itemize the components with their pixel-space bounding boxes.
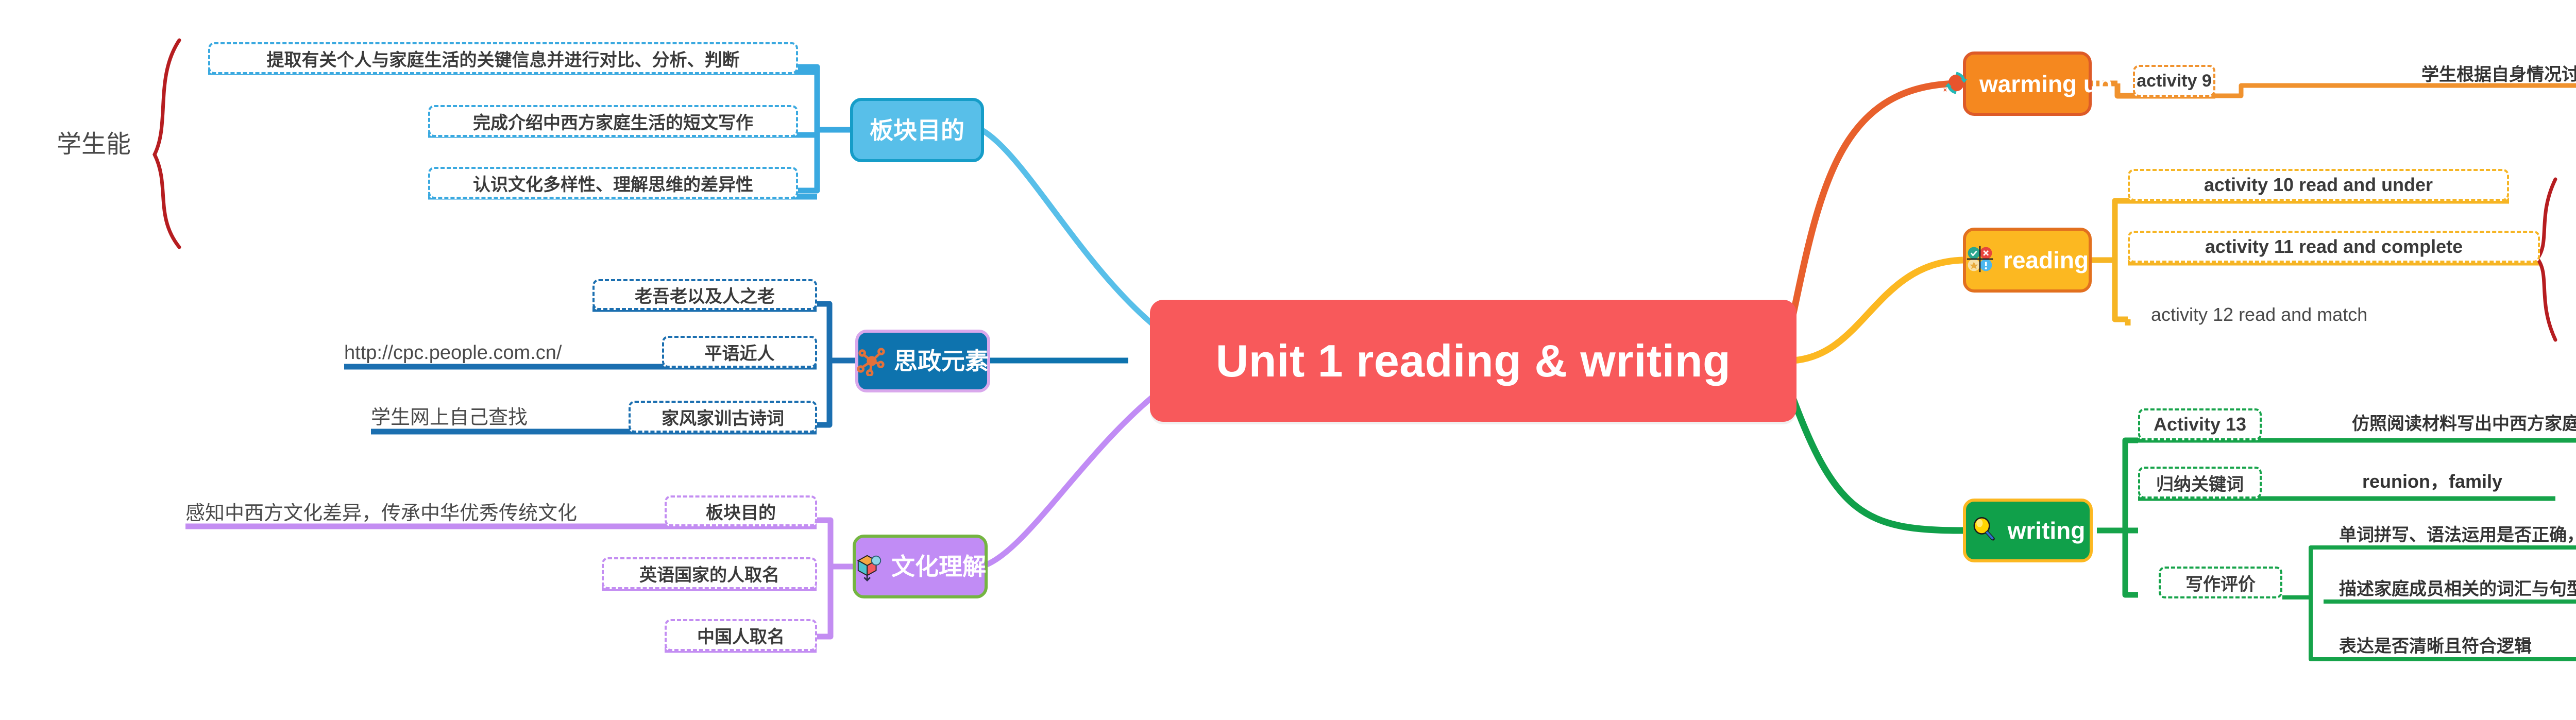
refresh-loop-icon: × bbox=[1942, 69, 1972, 99]
branch-objectives-label: 板块目的 bbox=[870, 118, 964, 142]
ideology-topic-3[interactable]: 家风家训古诗词 bbox=[629, 401, 817, 433]
branch-warming-up[interactable]: × warming up bbox=[1963, 52, 2092, 116]
culture-topic-3[interactable]: 中国人取名 bbox=[665, 619, 817, 651]
ideology-topic-2[interactable]: 平语近人 bbox=[662, 336, 817, 368]
cube-globe-icon bbox=[854, 552, 884, 581]
network-nodes-icon bbox=[857, 346, 887, 376]
branch-reading-label: reading bbox=[2003, 248, 2089, 272]
magnifier-icon bbox=[1971, 516, 2001, 545]
svg-text:×: × bbox=[1943, 87, 1947, 94]
writing-evaluation[interactable]: 写作评价 bbox=[2159, 567, 2282, 598]
culture-topic-1[interactable]: 板块目的 bbox=[665, 495, 817, 526]
branch-culture-label: 文化理解 bbox=[891, 555, 986, 578]
warming-up-activity-9-note: 学生根据自身情况讨论 bbox=[2421, 54, 2576, 85]
root-node[interactable]: Unit 1 reading & writing bbox=[1150, 300, 1797, 422]
reading-activity-11[interactable]: activity 11 read and complete bbox=[2128, 231, 2540, 263]
branch-ideology[interactable]: 思政元素 bbox=[855, 330, 990, 392]
branch-writing[interactable]: writing bbox=[1963, 499, 2093, 562]
objective-item-1[interactable]: 提取有关个人与家庭生活的关键信息并进行对比、分析、判断 bbox=[208, 42, 798, 74]
branch-reading[interactable]: reading bbox=[1963, 228, 2092, 293]
objective-item-2[interactable]: 完成介绍中西方家庭生活的短文写作 bbox=[428, 105, 798, 137]
branch-objectives[interactable]: 板块目的 bbox=[850, 98, 984, 162]
writing-keywords[interactable]: 归纳关键词 bbox=[2138, 467, 2262, 499]
branch-ideology-label: 思政元素 bbox=[894, 349, 989, 373]
writing-evaluation-note-1: 单词拼写、语法运用是否正确，标点符号是否规范 bbox=[2339, 515, 2576, 546]
culture-topic-2[interactable]: 英语国家的人取名 bbox=[602, 557, 817, 589]
ideology-note-2[interactable]: http://cpc.people.com.cn/ bbox=[344, 332, 562, 364]
writing-evaluation-note-3: 表达是否清晰且符合逻辑 bbox=[2339, 626, 2532, 657]
ideology-topic-1[interactable]: 老吾老以及人之老 bbox=[592, 279, 817, 310]
reading-activity-12: activity 12 read and match bbox=[2151, 295, 2367, 325]
four-circles-grid-icon bbox=[1966, 245, 1996, 275]
branch-writing-label: writing bbox=[2008, 519, 2086, 542]
writing-activity-13[interactable]: Activity 13 bbox=[2138, 408, 2262, 440]
branch-warming-up-label: warming up bbox=[1979, 72, 2112, 96]
ideology-note-3: 学生网上自己查找 bbox=[371, 398, 528, 430]
writing-evaluation-note-2: 描述家庭成员相关的词汇与句型的使用是否正确 bbox=[2339, 569, 2576, 600]
branch-culture[interactable]: 文化理解 bbox=[853, 535, 988, 598]
warming-up-activity-9[interactable]: activity 9 bbox=[2133, 65, 2215, 97]
students-can-bracket-label: 学生能 bbox=[57, 124, 131, 160]
root-title: Unit 1 reading & writing bbox=[1216, 335, 1731, 387]
writing-keywords-note: reunion，family bbox=[2362, 461, 2502, 493]
reading-activity-10[interactable]: activity 10 read and under bbox=[2128, 169, 2509, 201]
culture-note-1: 感知中西方文化差异，传承中华优秀传统文化 bbox=[185, 493, 577, 525]
mindmap-canvas: Unit 1 reading & writing 学生能 板块目的 提取有关个人… bbox=[0, 0, 2576, 720]
writing-activity-13-note: 仿照阅读材料写出中西方家庭不同的生活方式与理念 bbox=[2352, 403, 2576, 435]
objective-item-3[interactable]: 认识文化多样性、理解思维的差异性 bbox=[428, 167, 798, 199]
